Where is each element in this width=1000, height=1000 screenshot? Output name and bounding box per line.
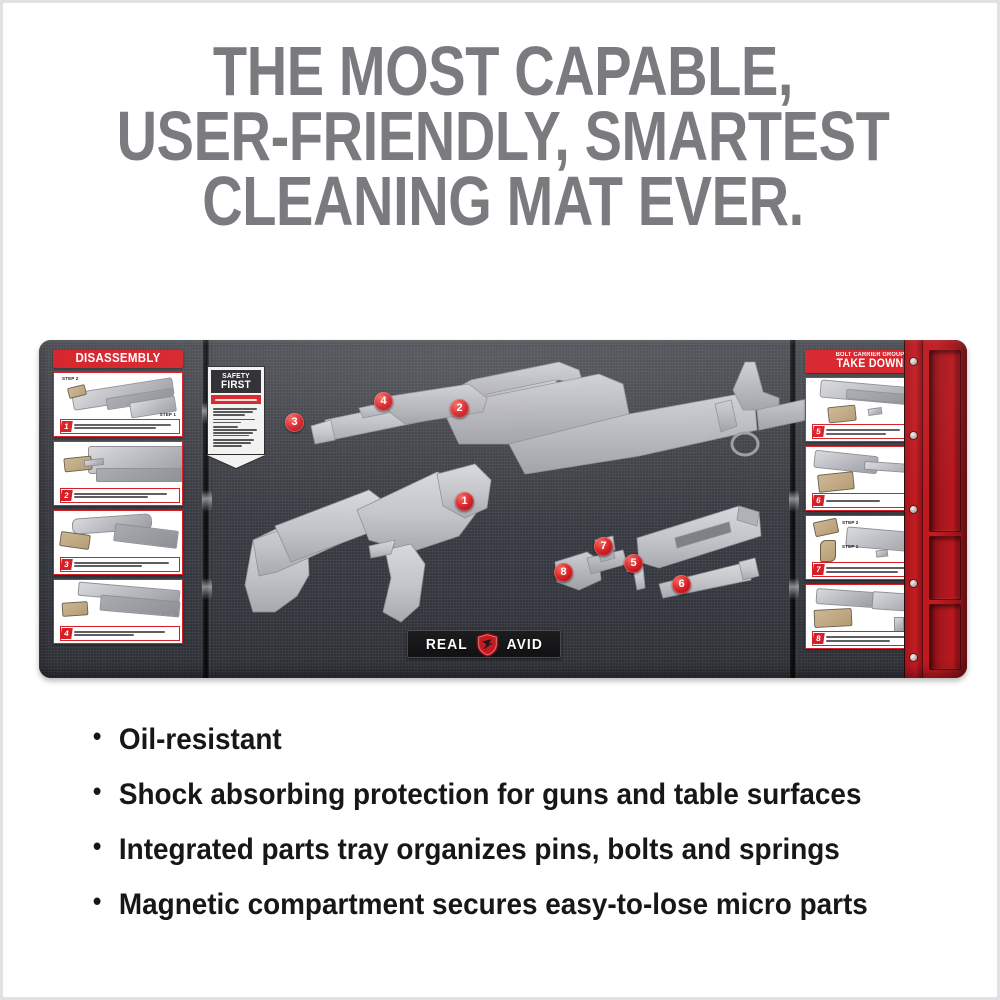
step-number-badge: 5 [812,426,825,437]
lower-receiver-assembly [245,464,491,622]
callout-badge-2: 2 [450,399,469,418]
step-number-badge: 6 [812,495,825,506]
integrated-parts-tray [904,340,967,678]
brand-word-right: AVID [506,636,542,653]
magnetic-compartment [929,604,961,670]
callout-badge-4: 4 [374,392,393,411]
step-number-badge: 7 [812,564,825,575]
tray-long-trough [929,350,961,532]
upper-receiver-assembly [443,362,847,474]
step-tag: STEP 1 [842,544,858,549]
callout-badge-5: 5 [624,554,643,573]
feature-list: Oil-resistant Shock absorbing protection… [91,725,951,945]
callout-badge-1: 1 [455,492,474,511]
list-item: Integrated parts tray organizes pins, bo… [91,835,891,865]
headline-line-2: USER-FRIENDLY, SMARTEST [103,104,903,169]
callout-badge-7: 7 [594,537,613,556]
callout-badge-6: 6 [672,575,691,594]
headline-line-1: THE MOST CAPABLE, [103,39,903,104]
magnet-rivet [910,432,917,439]
callout-badge-8: 8 [554,563,573,582]
product-marketing-page: THE MOST CAPABLE, USER-FRIENDLY, SMARTES… [0,0,1000,1000]
brand-word-left: REAL [426,636,468,653]
magnet-rivet [910,506,917,513]
headline-line-3: CLEANING MAT EVER. [103,169,903,234]
step-tag: STEP 2 [842,520,858,525]
real-avid-logo: REAL AVID [407,630,561,658]
magnet-rivet [910,358,917,365]
magnet-rivet [910,654,917,661]
step-number-badge: 8 [812,633,825,644]
shield-icon [475,632,500,657]
callout-badge-3: 3 [285,413,304,432]
list-item: Magnetic compartment secures easy-to-los… [91,890,891,920]
magnet-rivet [910,580,917,587]
page-title: THE MOST CAPABLE, USER-FRIENDLY, SMARTES… [103,39,903,234]
cleaning-mat-product-image: DISASSEMBLY STEP 2 STEP 1 1 [39,340,967,678]
list-item: Oil-resistant [91,725,891,755]
list-item: Shock absorbing protection for guns and … [91,780,891,810]
bolt-carrier-part [637,506,761,568]
tray-compartment [929,536,961,600]
